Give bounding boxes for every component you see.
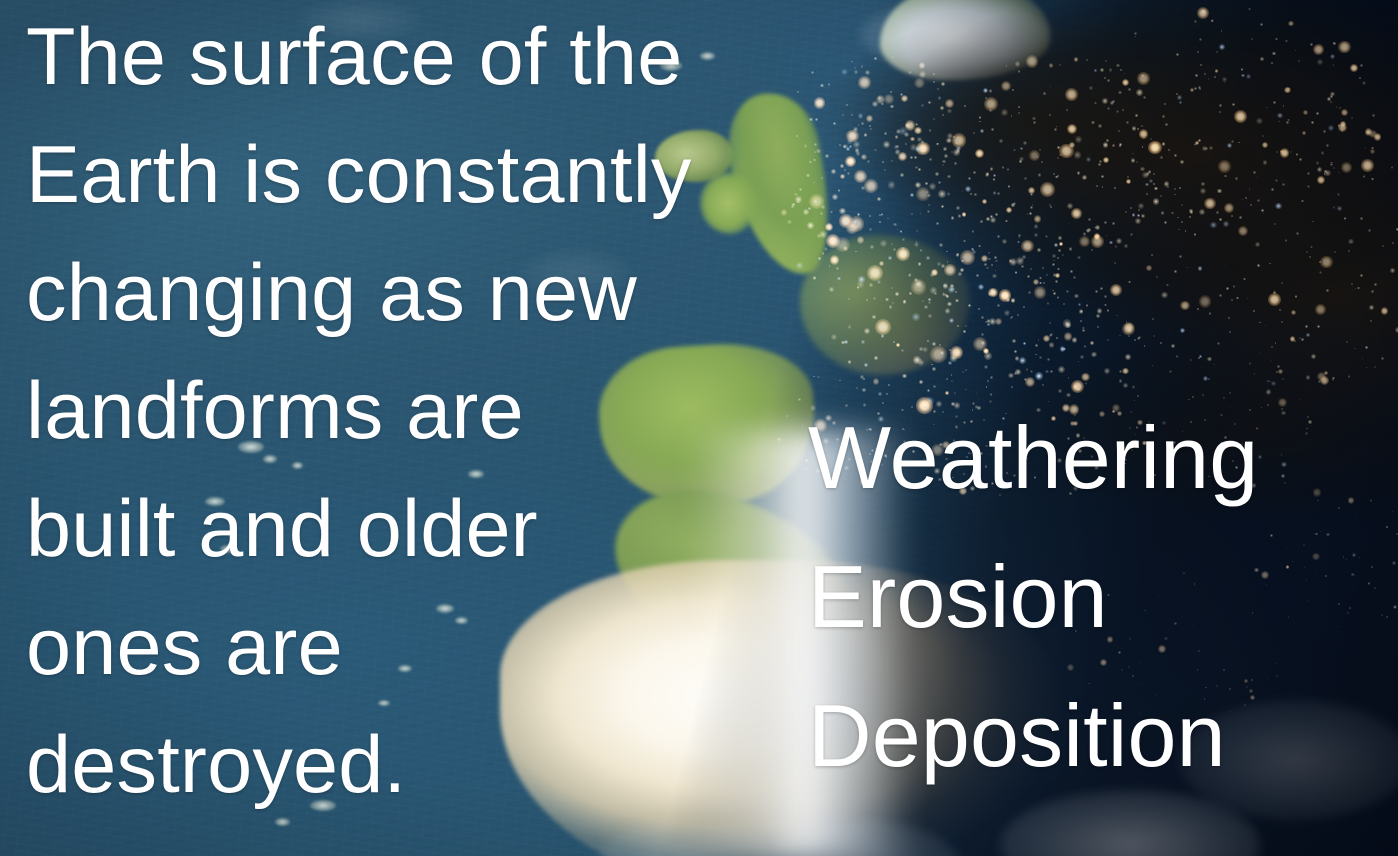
body-line-3: changing as new [26, 234, 786, 352]
term-weathering: Weathering [808, 388, 1388, 527]
body-line-6: ones are [26, 588, 786, 706]
body-line-4: landforms are [26, 352, 786, 470]
body-paragraph: The surface of the Earth is constantly c… [26, 0, 786, 824]
body-line-7: destroyed. [26, 706, 786, 824]
body-line-5: built and older [26, 470, 786, 588]
body-line-1: The surface of the [26, 0, 786, 116]
term-erosion: Erosion [808, 527, 1388, 666]
slide-canvas: The surface of the Earth is constantly c… [0, 0, 1398, 856]
term-deposition: Deposition [808, 666, 1388, 805]
body-line-2: Earth is constantly [26, 116, 786, 234]
key-terms-list: Weathering Erosion Deposition [808, 388, 1388, 805]
